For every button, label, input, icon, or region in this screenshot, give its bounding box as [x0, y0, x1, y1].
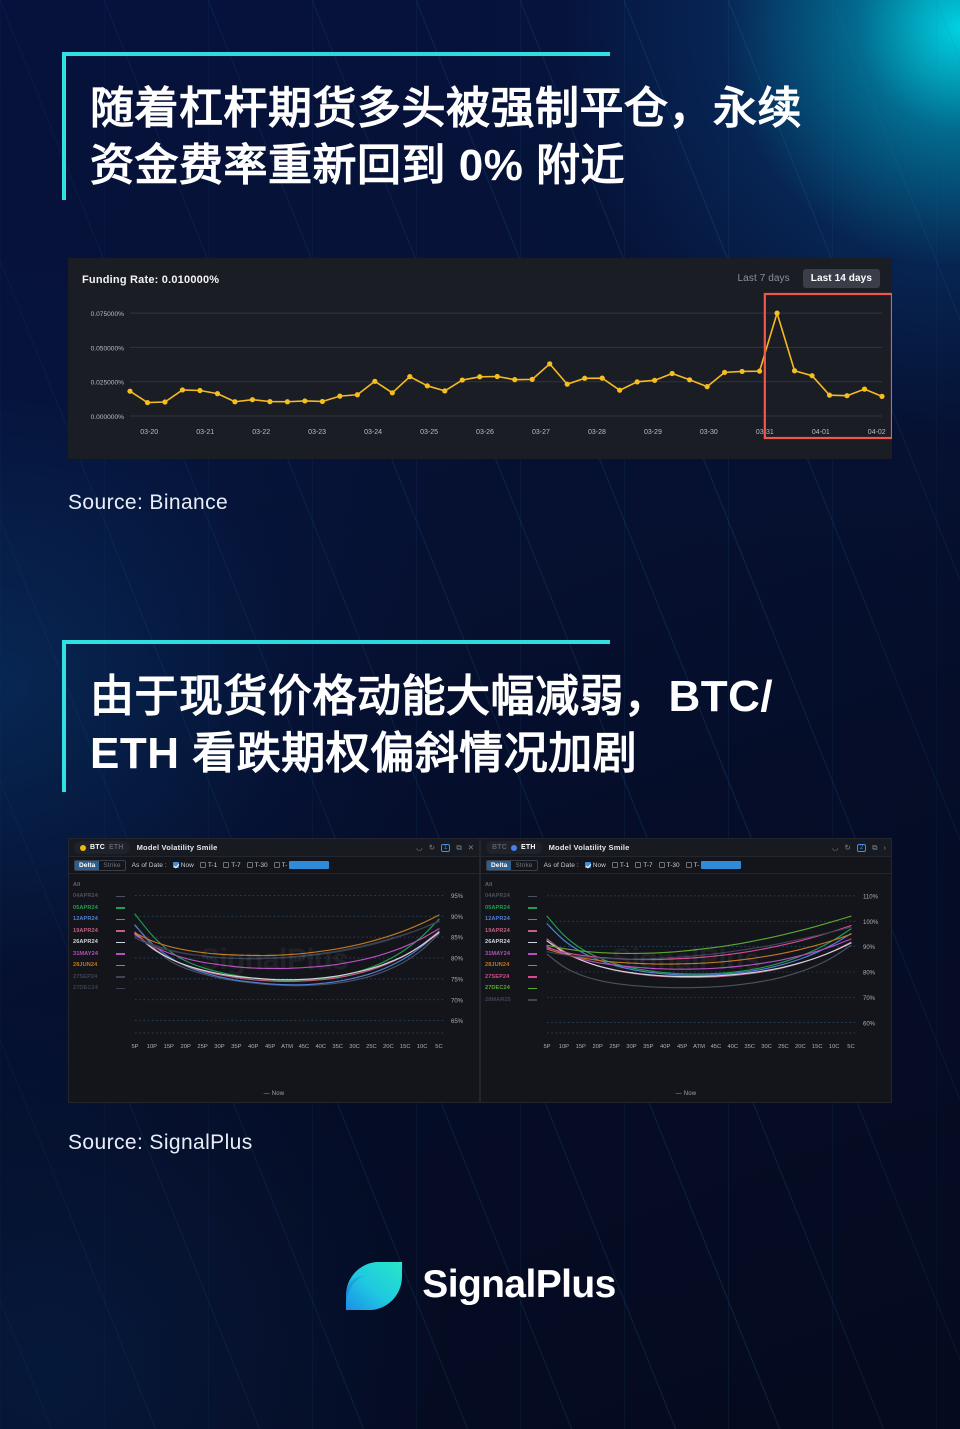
legend-label: 27SEP24	[73, 974, 97, 980]
funding-rate-plot: 0.000000%0.025000%0.050000%0.075000% 03-…	[68, 288, 892, 459]
refresh-icon[interactable]: ↻	[845, 844, 851, 852]
asof-option-t30[interactable]: T-30	[247, 862, 268, 869]
svg-text:03-23: 03-23	[308, 429, 326, 436]
vol-curves-eth	[547, 916, 851, 988]
expiry-legend-btc[interactable]: All04APR2405APR2412APR2419APR2426APR2431…	[73, 879, 125, 994]
svg-text:30C: 30C	[761, 1044, 772, 1050]
svg-text:0.075000%: 0.075000%	[91, 311, 125, 318]
legend-item-27dec24[interactable]: 27DEC24	[73, 983, 125, 995]
svg-text:35P: 35P	[643, 1044, 653, 1050]
headline-block-1: 随着杠杆期货多头被强制平仓，永续 资金费率重新回到 0% 附近	[62, 52, 874, 194]
legend-item-12apr24[interactable]: 12APR24	[485, 914, 537, 926]
asof-option-now[interactable]: Now	[585, 862, 606, 869]
legend-label: 27DEC24	[485, 985, 510, 991]
legend-item-all[interactable]: All	[485, 879, 537, 891]
panel-window-controls-btc: ◡ ↻ 1 ⧉ ✕	[416, 844, 474, 852]
legend-label: 27SEP24	[485, 974, 509, 980]
copy-icon[interactable]: ⧉	[456, 844, 461, 852]
svg-text:70%: 70%	[863, 996, 876, 1002]
range-selector: Last 7 days Last 14 days	[730, 269, 880, 288]
toggle-strike[interactable]: Strike	[99, 861, 124, 870]
signalplus-logo: SignalPlus	[0, 1256, 960, 1314]
chevron-right-icon[interactable]: ›	[884, 844, 887, 852]
legend-item-26apr24[interactable]: 26APR24	[485, 937, 537, 949]
symbol-btc[interactable]: BTC	[492, 844, 507, 851]
legend-item-05apr24[interactable]: 05APR24	[485, 902, 537, 914]
legend-item-04apr24[interactable]: 04APR24	[73, 891, 125, 903]
svg-text:20C: 20C	[795, 1044, 806, 1050]
legend-label: 26APR24	[73, 939, 98, 945]
refresh-icon[interactable]: ↻	[429, 844, 435, 852]
svg-text:30P: 30P	[626, 1044, 636, 1050]
asof-t7-label: T-7	[231, 862, 240, 869]
legend-label: All	[485, 882, 492, 888]
legend-item-04apr24[interactable]: 04APR24	[485, 891, 537, 903]
svg-text:10C: 10C	[829, 1044, 840, 1050]
funding-rate-data-points	[127, 311, 884, 406]
legend-label: 28JUN24	[73, 962, 97, 968]
svg-text:80%: 80%	[451, 957, 464, 963]
volatility-smile-panel-btc: BTC ETH Model Volatility Smile ◡ ↻ 1 ⧉ ✕…	[68, 838, 480, 1103]
legend-color-swatch	[116, 919, 125, 921]
asof-t1-label: T-1	[620, 862, 629, 869]
now-legend-btc: — Now	[69, 1091, 479, 1097]
svg-text:110%: 110%	[863, 894, 879, 900]
custom-days-input[interactable]	[289, 861, 329, 869]
svg-text:10P: 10P	[559, 1044, 569, 1050]
symbol-toggle-btc-panel[interactable]: BTC ETH	[74, 841, 130, 854]
legend-label: 31MAY24	[73, 951, 98, 957]
svg-text:60%: 60%	[863, 1021, 876, 1027]
panel-titlebar-btc: BTC ETH Model Volatility Smile ◡ ↻ 1 ⧉ ✕	[69, 839, 479, 857]
svg-text:03-22: 03-22	[252, 429, 270, 436]
asof-option-t30[interactable]: T-30	[659, 862, 680, 869]
checkbox-t1[interactable]	[612, 862, 618, 868]
svg-text:15P: 15P	[164, 1044, 174, 1050]
legend-item-all[interactable]: All	[73, 879, 125, 891]
range-button-last-7-days[interactable]: Last 7 days	[730, 269, 798, 288]
btc-dot-icon	[80, 845, 86, 851]
checkbox-t7[interactable]	[635, 862, 641, 868]
svg-text:70%: 70%	[451, 998, 464, 1004]
external-link-icon[interactable]: ◡	[416, 844, 423, 852]
signalplus-logo-text: SignalPlus	[422, 1263, 615, 1307]
svg-text:ATM: ATM	[281, 1044, 293, 1050]
svg-text:35C: 35C	[332, 1044, 343, 1050]
svg-text:25P: 25P	[609, 1044, 619, 1050]
expiry-legend-eth[interactable]: All04APR2405APR2412APR2419APR2426APR2431…	[485, 879, 537, 1006]
legend-color-swatch	[116, 988, 125, 990]
svg-text:25P: 25P	[197, 1044, 207, 1050]
external-link-icon[interactable]: ◡	[832, 844, 839, 852]
funding-rate-line	[130, 313, 882, 402]
legend-color-swatch	[528, 988, 537, 990]
eth-dot-icon	[511, 845, 517, 851]
svg-text:45C: 45C	[299, 1044, 310, 1050]
legend-color-swatch	[528, 976, 537, 978]
asof-now-label: Now	[181, 862, 194, 869]
vol-x-labels-btc: 5P10P15P20P25P30P35P40P45PATM45C40C35C30…	[131, 1044, 442, 1050]
asof-t1-label: T-1	[208, 862, 217, 869]
svg-text:45P: 45P	[265, 1044, 275, 1050]
svg-text:20C: 20C	[383, 1044, 394, 1050]
svg-text:5C: 5C	[847, 1044, 854, 1050]
asof-date-label: As of Date :	[132, 862, 167, 869]
copy-icon[interactable]: ⧉	[872, 844, 877, 852]
svg-text:03-21: 03-21	[196, 429, 214, 436]
svg-text:5P: 5P	[131, 1044, 138, 1050]
panel-titlebar-eth: BTC ETH Model Volatility Smile ◡ ↻ 2 ⧉ ›	[481, 839, 891, 857]
legend-color-swatch	[116, 976, 125, 978]
checkbox-t7[interactable]	[223, 862, 229, 868]
legend-label: 19APR24	[485, 928, 510, 934]
volatility-smile-plot-eth: 60%70%80%90%100%110% 5P10P15P20P25P30P35…	[539, 877, 889, 1080]
asof-t7-label: T-7	[643, 862, 652, 869]
legend-item-27sep24[interactable]: 27SEP24	[485, 971, 537, 983]
asof-option-t1[interactable]: T-1	[200, 862, 217, 869]
asof-option-t1[interactable]: T-1	[612, 862, 629, 869]
legend-label: 26APR24	[485, 939, 510, 945]
symbol-eth[interactable]: ETH	[109, 844, 124, 851]
asof-t30-label: T-30	[667, 862, 680, 869]
legend-label: 05APR24	[485, 905, 510, 911]
svg-text:40C: 40C	[315, 1044, 326, 1050]
checkbox-custom[interactable]	[274, 862, 280, 868]
legend-item-05apr24[interactable]: 05APR24	[73, 902, 125, 914]
svg-text:03-29: 03-29	[644, 429, 662, 436]
svg-text:30P: 30P	[214, 1044, 224, 1050]
legend-item-12apr24[interactable]: 12APR24	[73, 914, 125, 926]
checkbox-t30[interactable]	[247, 862, 253, 868]
legend-color-swatch	[528, 999, 537, 1001]
funding-x-tick-labels: 03-2003-2103-2203-2303-2403-2503-2603-27…	[140, 429, 886, 436]
legend-item-31may24[interactable]: 31MAY24	[73, 948, 125, 960]
svg-text:03-24: 03-24	[364, 429, 382, 436]
funding-rate-chart-card: Funding Rate: 0.010000% Last 7 days Last…	[68, 258, 892, 459]
funding-y-tick-labels: 0.000000%0.025000%0.050000%0.075000%	[91, 311, 125, 421]
signalplus-wave-mark	[344, 1256, 406, 1314]
legend-color-swatch	[528, 965, 537, 967]
legend-item-28mar25[interactable]: 28MAR25	[485, 994, 537, 1006]
svg-text:0.050000%: 0.050000%	[91, 345, 125, 352]
legend-color-swatch	[528, 942, 537, 944]
legend-label: 04APR24	[73, 893, 98, 899]
legend-label: 12APR24	[73, 916, 98, 922]
svg-text:65%: 65%	[451, 1019, 464, 1025]
svg-text:0.025000%: 0.025000%	[91, 380, 125, 387]
svg-text:03-26: 03-26	[476, 429, 494, 436]
svg-text:40C: 40C	[727, 1044, 738, 1050]
legend-item-28jun24[interactable]: 28JUN24	[73, 960, 125, 972]
asof-option-t7[interactable]: T-7	[635, 862, 652, 869]
legend-item-19apr24[interactable]: 19APR24	[73, 925, 125, 937]
legend-item-27sep24[interactable]: 27SEP24	[73, 971, 125, 983]
source-caption-binance: Source: Binance	[68, 491, 228, 515]
page-number-badge[interactable]: 1	[441, 844, 450, 852]
svg-text:25C: 25C	[366, 1044, 377, 1050]
svg-text:80%: 80%	[863, 971, 876, 977]
svg-text:5C: 5C	[435, 1044, 442, 1050]
symbol-btc[interactable]: BTC	[90, 844, 105, 851]
close-icon[interactable]: ✕	[468, 844, 474, 852]
svg-text:25C: 25C	[778, 1044, 789, 1050]
checkbox-t30[interactable]	[659, 862, 665, 868]
svg-text:10C: 10C	[417, 1044, 428, 1050]
svg-text:5P: 5P	[543, 1044, 550, 1050]
toggle-delta[interactable]: Delta	[75, 861, 99, 870]
legend-item-27dec24[interactable]: 27DEC24	[485, 983, 537, 995]
svg-text:03-30: 03-30	[700, 429, 718, 436]
legend-label: 31MAY24	[485, 951, 510, 957]
toggle-strike[interactable]: Strike	[511, 861, 536, 870]
legend-color-swatch	[528, 907, 537, 909]
svg-text:15C: 15C	[400, 1044, 411, 1050]
svg-text:90%: 90%	[863, 945, 876, 951]
funding-rate-title: Funding Rate: 0.010000%	[82, 274, 219, 286]
panel-title-eth: Model Volatility Smile	[549, 843, 630, 852]
panel-toolbar-eth: Delta Strike As of Date : Now T-1 T-7 T-…	[481, 857, 891, 874]
panel-title-btc: Model Volatility Smile	[137, 843, 218, 852]
legend-label: 05APR24	[73, 905, 98, 911]
toggle-delta[interactable]: Delta	[487, 861, 511, 870]
vol-y-labels-btc: 65%70%75%80%85%90%95%	[451, 894, 464, 1025]
svg-text:15C: 15C	[812, 1044, 823, 1050]
vol-curves-btc	[135, 914, 439, 986]
svg-text:45P: 45P	[677, 1044, 687, 1050]
legend-color-swatch	[116, 965, 125, 967]
svg-text:04-01: 04-01	[812, 429, 830, 436]
svg-text:85%: 85%	[451, 936, 464, 942]
legend-label: 12APR24	[485, 916, 510, 922]
svg-text:0.000000%: 0.000000%	[91, 414, 125, 421]
svg-text:45C: 45C	[711, 1044, 722, 1050]
legend-color-swatch	[528, 930, 537, 932]
svg-text:95%: 95%	[451, 894, 464, 900]
svg-text:35P: 35P	[231, 1044, 241, 1050]
source-caption-signalplus: Source: SignalPlus	[68, 1131, 253, 1155]
asof-option-now[interactable]: Now	[173, 862, 194, 869]
svg-text:40P: 40P	[248, 1044, 258, 1050]
asof-option-custom[interactable]: T-	[686, 861, 742, 869]
svg-text:03-27: 03-27	[532, 429, 550, 436]
vol-y-labels-eth: 60%70%80%90%100%110%	[863, 894, 879, 1027]
legend-label: 28MAR25	[485, 997, 511, 1003]
headline-text-1: 随着杠杆期货多头被强制平仓，永续 资金费率重新回到 0% 附近	[62, 52, 874, 194]
svg-text:03-20: 03-20	[140, 429, 158, 436]
svg-text:03-28: 03-28	[588, 429, 606, 436]
svg-text:10P: 10P	[147, 1044, 157, 1050]
legend-item-19apr24[interactable]: 19APR24	[485, 925, 537, 937]
range-button-last-14-days[interactable]: Last 14 days	[803, 269, 880, 288]
legend-color-swatch	[116, 953, 125, 955]
svg-text:ATM: ATM	[693, 1044, 705, 1050]
legend-color-swatch	[528, 896, 537, 898]
panel-window-controls-eth: ◡ ↻ 2 ⧉ ›	[832, 844, 886, 852]
asof-now-label: Now	[593, 862, 606, 869]
legend-item-26apr24[interactable]: 26APR24	[73, 937, 125, 949]
legend-color-swatch	[528, 953, 537, 955]
svg-text:20P: 20P	[181, 1044, 191, 1050]
headline-text-2: 由于现货价格动能大幅减弱，BTC/ ETH 看跌期权偏斜情况加剧	[62, 640, 874, 782]
asof-option-custom[interactable]: T-	[274, 861, 330, 869]
symbol-eth[interactable]: ETH	[521, 844, 536, 851]
legend-color-swatch	[116, 930, 125, 932]
delta-strike-toggle-btc[interactable]: Delta Strike	[74, 860, 126, 871]
vol-x-labels-eth: 5P10P15P20P25P30P35P40P45PATM45C40C35C30…	[543, 1044, 854, 1050]
svg-text:15P: 15P	[576, 1044, 586, 1050]
legend-color-swatch	[116, 942, 125, 944]
legend-color-swatch	[116, 896, 125, 898]
legend-color-swatch	[116, 907, 125, 909]
asof-date-label: As of Date :	[544, 862, 579, 869]
svg-text:90%: 90%	[451, 915, 464, 921]
svg-text:75%: 75%	[451, 977, 464, 983]
svg-text:30C: 30C	[349, 1044, 360, 1050]
svg-text:100%: 100%	[863, 920, 879, 926]
asof-custom-label: T-	[694, 862, 700, 869]
svg-text:20P: 20P	[593, 1044, 603, 1050]
checkbox-now[interactable]	[173, 862, 179, 868]
panel-toolbar-btc: Delta Strike As of Date : Now T-1 T-7 T-…	[69, 857, 479, 874]
svg-text:35C: 35C	[744, 1044, 755, 1050]
legend-item-28jun24[interactable]: 28JUN24	[485, 960, 537, 972]
checkbox-custom[interactable]	[686, 862, 692, 868]
now-legend-eth: — Now	[481, 1091, 891, 1097]
custom-days-input[interactable]	[701, 861, 741, 869]
svg-text:04-02: 04-02	[868, 429, 886, 436]
legend-label: 28JUN24	[485, 962, 509, 968]
legend-label: 19APR24	[73, 928, 98, 934]
page-number-badge[interactable]: 2	[857, 844, 866, 852]
delta-strike-toggle-eth[interactable]: Delta Strike	[486, 860, 538, 871]
asof-t30-label: T-30	[255, 862, 268, 869]
checkbox-t1[interactable]	[200, 862, 206, 868]
symbol-toggle-eth-panel[interactable]: BTC ETH	[486, 841, 542, 854]
svg-text:03-25: 03-25	[420, 429, 438, 436]
volatility-smile-panel-eth: BTC ETH Model Volatility Smile ◡ ↻ 2 ⧉ ›…	[480, 838, 892, 1103]
asof-custom-label: T-	[282, 862, 288, 869]
svg-text:40P: 40P	[660, 1044, 670, 1050]
volatility-smile-plot-btc: 65%70%75%80%85%90%95% 5P10P15P20P25P30P3…	[127, 877, 477, 1080]
legend-label: 04APR24	[485, 893, 510, 899]
legend-item-31may24[interactable]: 31MAY24	[485, 948, 537, 960]
asof-option-t7[interactable]: T-7	[223, 862, 240, 869]
legend-color-swatch	[528, 919, 537, 921]
headline-block-2: 由于现货价格动能大幅减弱，BTC/ ETH 看跌期权偏斜情况加剧	[62, 640, 874, 782]
checkbox-now[interactable]	[585, 862, 591, 868]
legend-label: 27DEC24	[73, 985, 98, 991]
legend-label: All	[73, 882, 80, 888]
